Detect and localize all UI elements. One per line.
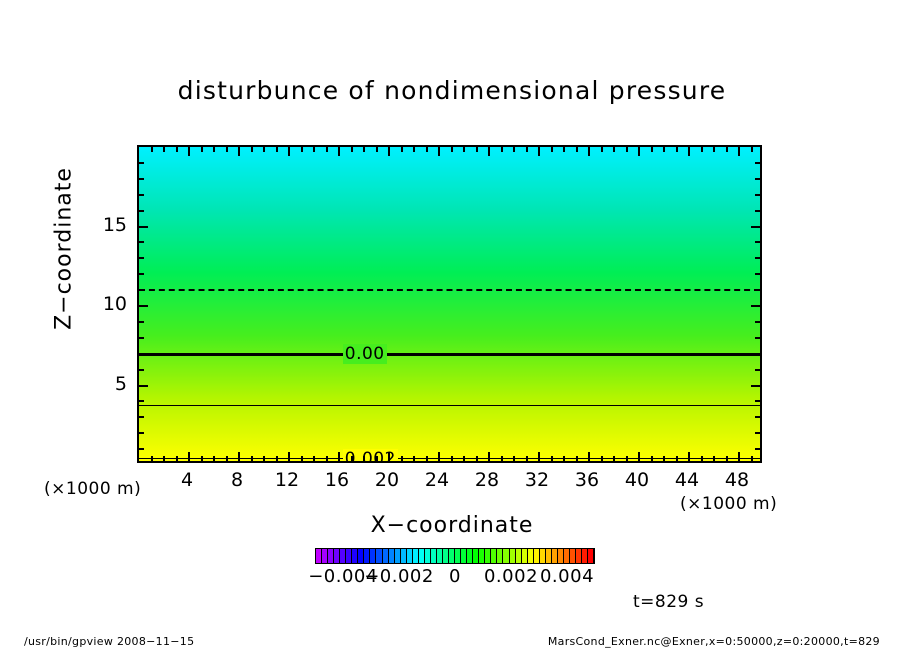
axis-tick	[263, 456, 265, 461]
axis-tick	[755, 353, 760, 355]
axis-tick	[213, 456, 215, 461]
axis-tick	[201, 456, 203, 461]
y-axis-title: Z−coordinate	[52, 149, 77, 349]
page-title: disturbunce of nondimensional pressure	[0, 76, 904, 105]
axis-tick	[139, 353, 144, 355]
axis-tick	[238, 147, 240, 156]
y-tick-label: 15	[89, 214, 127, 236]
axis-tick	[755, 162, 760, 164]
axis-tick	[488, 452, 490, 461]
axis-tick	[139, 226, 148, 228]
axis-tick	[755, 416, 760, 418]
x-unit-label-left: (×1000 m)	[44, 479, 141, 499]
axis-tick	[313, 456, 315, 461]
axis-tick	[755, 257, 760, 259]
axis-tick	[755, 369, 760, 371]
axis-tick	[701, 147, 703, 152]
axis-tick	[139, 369, 144, 371]
axis-tick	[163, 456, 165, 461]
axis-tick	[463, 456, 465, 461]
axis-tick	[376, 147, 378, 152]
axis-tick	[426, 147, 428, 152]
x-tick-label: 12	[275, 469, 299, 491]
axis-tick	[151, 147, 153, 152]
y-tick-label: 5	[89, 373, 127, 395]
colorbar	[315, 548, 595, 564]
axis-tick	[426, 456, 428, 461]
axis-tick	[755, 321, 760, 323]
axis-tick	[139, 385, 148, 387]
axis-tick	[139, 257, 144, 259]
contour-line	[139, 289, 760, 291]
axis-tick	[651, 147, 653, 152]
axis-tick	[588, 147, 590, 156]
axis-tick	[713, 456, 715, 461]
axis-tick	[139, 289, 144, 291]
axis-tick	[288, 452, 290, 461]
axis-tick	[401, 456, 403, 461]
x-unit-label-right: (×1000 m)	[680, 494, 777, 514]
colorbar-bands	[315, 548, 595, 564]
axis-tick	[139, 432, 144, 434]
axis-tick	[551, 456, 553, 461]
axis-tick	[638, 452, 640, 461]
axis-tick	[451, 147, 453, 152]
axis-tick	[176, 147, 178, 152]
plot-area: 0.000.002	[137, 145, 762, 463]
axis-tick	[176, 456, 178, 461]
axis-tick	[755, 273, 760, 275]
axis-tick	[139, 162, 144, 164]
axis-tick	[651, 456, 653, 461]
axis-tick	[363, 456, 365, 461]
axis-tick	[513, 456, 515, 461]
footer-dataset-info: MarsCond_Exner.nc@Exner,x=0:50000,z=0:20…	[548, 635, 880, 648]
axis-tick	[139, 337, 144, 339]
axis-tick	[476, 147, 478, 152]
axis-tick	[488, 147, 490, 156]
axis-tick	[288, 147, 290, 156]
x-tick-label: 36	[575, 469, 599, 491]
axis-tick	[755, 210, 760, 212]
axis-tick	[388, 452, 390, 461]
contour-label: 0.00	[343, 344, 387, 364]
axis-tick	[751, 305, 760, 307]
axis-tick	[201, 147, 203, 152]
axis-tick	[526, 456, 528, 461]
axis-tick	[663, 147, 665, 152]
axis-tick	[188, 147, 190, 156]
x-tick-label: 48	[725, 469, 749, 491]
axis-tick	[751, 385, 760, 387]
x-tick-label: 28	[475, 469, 499, 491]
axis-tick	[755, 241, 760, 243]
axis-tick	[139, 400, 144, 402]
axis-tick	[501, 147, 503, 152]
axis-tick	[139, 194, 144, 196]
axis-tick	[663, 456, 665, 461]
axis-tick	[726, 456, 728, 461]
axis-tick	[576, 456, 578, 461]
axis-tick	[538, 452, 540, 461]
axis-tick	[301, 147, 303, 152]
axis-tick	[755, 400, 760, 402]
time-annotation: t=829 s	[633, 592, 704, 612]
axis-tick	[688, 452, 690, 461]
axis-tick	[738, 147, 740, 156]
x-tick-label: 4	[181, 469, 193, 491]
axis-tick	[151, 456, 153, 461]
axis-tick	[139, 321, 144, 323]
footer-command-info: /usr/bin/gpview 2008−11−15	[24, 635, 194, 648]
axis-tick	[326, 456, 328, 461]
axis-tick	[601, 456, 603, 461]
axis-tick	[755, 178, 760, 180]
axis-tick	[301, 456, 303, 461]
x-tick-label: 32	[525, 469, 549, 491]
axis-tick	[326, 147, 328, 152]
axis-tick	[576, 147, 578, 152]
axis-tick	[438, 452, 440, 461]
x-tick-label: 20	[375, 469, 399, 491]
axis-tick	[513, 147, 515, 152]
colorbar-tick-label: 0	[449, 566, 461, 587]
axis-tick	[501, 456, 503, 461]
axis-tick	[139, 416, 144, 418]
axis-tick	[688, 147, 690, 156]
axis-tick	[313, 147, 315, 152]
x-tick-label: 40	[625, 469, 649, 491]
axis-tick	[601, 147, 603, 152]
axis-tick	[438, 147, 440, 156]
axis-tick	[676, 456, 678, 461]
axis-tick	[463, 147, 465, 152]
axis-tick	[738, 452, 740, 461]
axis-tick	[751, 147, 753, 152]
axis-tick	[139, 273, 144, 275]
axis-tick	[139, 305, 148, 307]
axis-tick	[139, 448, 144, 450]
axis-tick	[755, 337, 760, 339]
axis-tick	[713, 147, 715, 152]
axis-tick	[413, 147, 415, 152]
axis-tick	[626, 147, 628, 152]
x-tick-label: 24	[425, 469, 449, 491]
axis-tick	[563, 456, 565, 461]
axis-tick	[551, 147, 553, 152]
axis-tick	[251, 456, 253, 461]
x-axis-title: X−coordinate	[0, 513, 904, 538]
axis-tick	[388, 147, 390, 156]
x-tick-label: 8	[231, 469, 243, 491]
axis-tick	[413, 456, 415, 461]
axis-tick	[613, 456, 615, 461]
colorbar-band	[588, 549, 594, 563]
axis-tick	[139, 241, 144, 243]
x-tick-label: 44	[675, 469, 699, 491]
axis-tick	[638, 147, 640, 156]
axis-tick	[226, 147, 228, 152]
axis-tick	[338, 452, 340, 461]
axis-tick	[755, 289, 760, 291]
axis-tick	[351, 456, 353, 461]
axis-tick	[351, 147, 353, 152]
axis-tick	[563, 147, 565, 152]
contour-line	[139, 353, 760, 356]
axis-tick	[376, 456, 378, 461]
axis-tick	[263, 147, 265, 152]
axis-tick	[188, 452, 190, 461]
contour-line	[139, 458, 760, 459]
colorbar-tick-label: 0.004	[540, 566, 594, 587]
axis-tick	[251, 147, 253, 152]
axis-tick	[588, 452, 590, 461]
axis-tick	[139, 210, 144, 212]
axis-tick	[451, 456, 453, 461]
axis-tick	[538, 147, 540, 156]
axis-tick	[163, 147, 165, 152]
axis-tick	[526, 147, 528, 152]
x-tick-label: 16	[325, 469, 349, 491]
axis-tick	[751, 226, 760, 228]
axis-tick	[755, 448, 760, 450]
axis-tick	[226, 456, 228, 461]
axis-tick	[213, 147, 215, 152]
axis-tick	[238, 452, 240, 461]
axis-tick	[701, 456, 703, 461]
axis-tick	[626, 456, 628, 461]
axis-tick	[276, 456, 278, 461]
axis-tick	[476, 456, 478, 461]
colorbar-tick-label: −0.002	[364, 566, 434, 587]
axis-tick	[751, 456, 753, 461]
axis-tick	[726, 147, 728, 152]
axis-tick	[139, 178, 144, 180]
axis-tick	[401, 147, 403, 152]
axis-tick	[613, 147, 615, 152]
contour-fill-gradient	[139, 147, 760, 461]
contour-line	[139, 405, 760, 406]
colorbar-tick-label: 0.002	[484, 566, 538, 587]
axis-tick	[363, 147, 365, 152]
axis-tick	[755, 194, 760, 196]
axis-tick	[338, 147, 340, 156]
axis-tick	[676, 147, 678, 152]
y-tick-label: 10	[89, 293, 127, 315]
colorbar-tick-labels: −0.004−0.00200.0020.004	[295, 566, 615, 588]
axis-tick	[755, 432, 760, 434]
axis-tick	[276, 147, 278, 152]
